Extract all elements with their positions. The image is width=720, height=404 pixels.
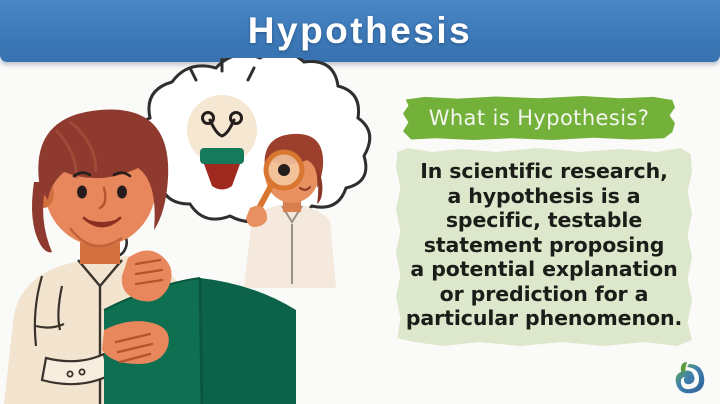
definition-header: What is Hypothesis? [403, 96, 675, 140]
page-title: Hypothesis [248, 12, 472, 49]
definition-body: In scientific research, a hypothesis is … [396, 148, 692, 346]
definition-line: statement proposing [404, 233, 684, 258]
definition-header-label: What is Hypothesis? [429, 106, 650, 130]
definition-line: a potential explanation [404, 257, 684, 282]
definition-line: specific, testable [404, 208, 684, 233]
illustration-woman-reading [0, 58, 400, 404]
definition-line: or prediction for a [404, 282, 684, 307]
definition-panel: What is Hypothesis? In scientific resear… [396, 96, 692, 358]
definition-line: In scientific research, [404, 159, 684, 184]
definition-line: a hypothesis is a [404, 184, 684, 209]
biology-online-logo[interactable] [672, 360, 706, 394]
definition-line: particular phenomenon. [404, 306, 684, 331]
title-banner: Hypothesis [0, 0, 720, 62]
infographic-canvas: Hypothesis [0, 0, 720, 404]
